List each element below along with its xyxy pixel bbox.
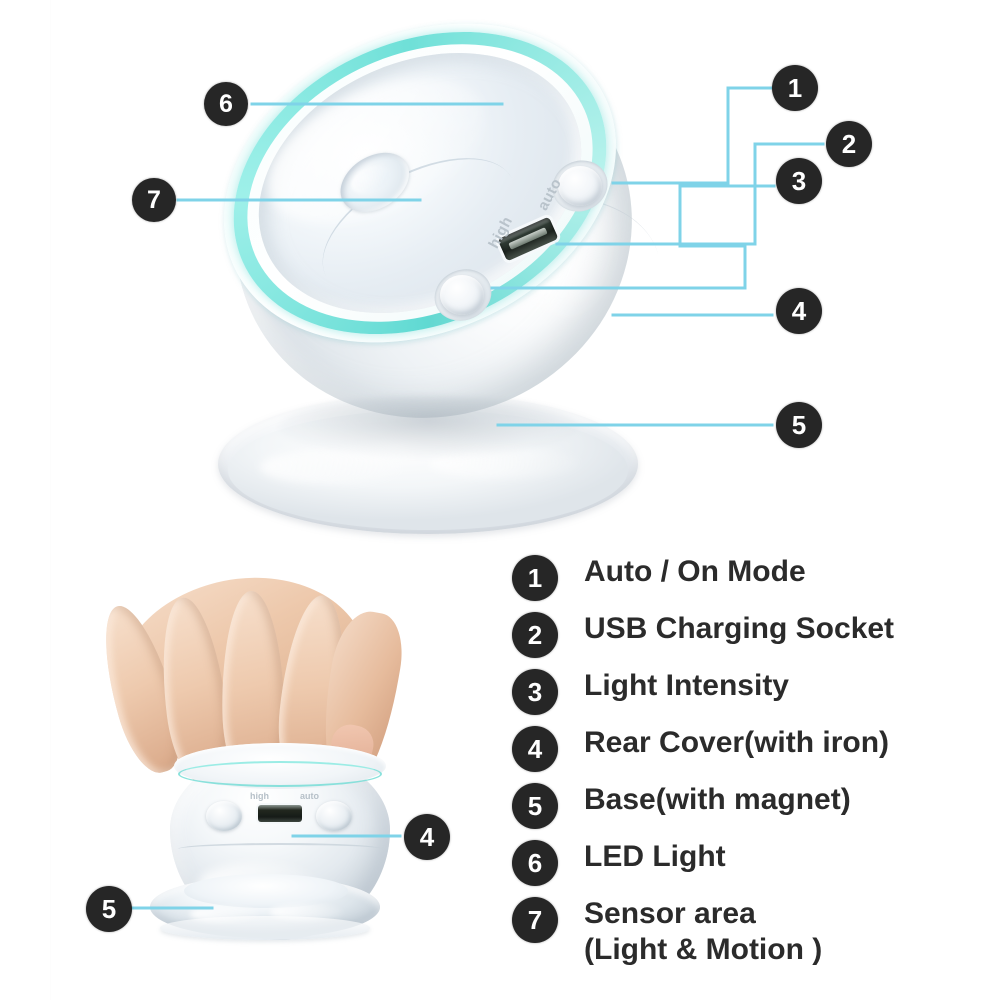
hero-product-illustration: high auto	[200, 18, 670, 538]
legend-badge-3[interactable]: 3	[512, 669, 558, 715]
hand-device-control-strip: high auto	[174, 797, 386, 841]
hand-device-seam	[178, 843, 382, 855]
legend-label-5: Base(with magnet)	[584, 780, 851, 820]
hand-device-teal-ring	[178, 761, 382, 787]
legend-label-4: Rear Cover(with iron)	[584, 723, 889, 763]
hand-device-high-label: high	[250, 791, 269, 801]
hero-callout-badge-1[interactable]: 1	[772, 65, 818, 111]
detached-base-top-face	[184, 874, 348, 908]
legend-label-6: LED Light	[584, 837, 726, 877]
detached-base-illustration	[150, 872, 380, 944]
detached-base-rim-lip	[160, 916, 370, 940]
detached-base-gloss-left	[190, 906, 260, 922]
legend-badge-5[interactable]: 5	[512, 783, 558, 829]
legend-badge-1[interactable]: 1	[512, 555, 558, 601]
legend-item-1: 1 Auto / On Mode	[512, 552, 982, 609]
legend-item-2: 2 USB Charging Socket	[512, 609, 982, 666]
legend-label-7: Sensor area	[584, 894, 756, 934]
legend-badge-7[interactable]: 7	[512, 897, 558, 943]
detached-base-gloss-right	[270, 904, 344, 920]
hero-light-intensity-button[interactable]	[440, 275, 484, 315]
legend-item-6: 6 LED Light	[512, 837, 982, 894]
legend-label-1: Auto / On Mode	[584, 552, 806, 592]
legend-label-7-line2: (Light & Motion )	[584, 930, 822, 970]
legend-badge-6[interactable]: 6	[512, 840, 558, 886]
legend-badge-4[interactable]: 4	[512, 726, 558, 772]
legend-badge-2[interactable]: 2	[512, 612, 558, 658]
legend-label-3: Light Intensity	[584, 666, 789, 706]
legend-item-7: 7 Sensor area (Light & Motion )	[512, 894, 982, 984]
hero-auto-on-mode-button[interactable]	[558, 166, 602, 206]
hand-callout-badge-4[interactable]: 4	[404, 814, 450, 860]
hero-callout-badge-4[interactable]: 4	[776, 288, 822, 334]
legend-label-2: USB Charging Socket	[584, 609, 894, 649]
hero-callout-badge-3[interactable]: 3	[776, 158, 822, 204]
hand-device-auto-button[interactable]	[316, 801, 352, 831]
hand-device-auto-label: auto	[300, 791, 319, 801]
hero-callout-badge-6[interactable]: 6	[204, 82, 248, 126]
hand-device-light-intensity-button[interactable]	[206, 801, 242, 831]
legend-item-4: 4 Rear Cover(with iron)	[512, 723, 982, 780]
hero-callout-badge-5[interactable]: 5	[776, 402, 822, 448]
hero-control-strip: high auto	[200, 18, 670, 538]
product-diagram-page: high auto high auto	[0, 0, 1000, 1000]
loose-base-callout-badge-5[interactable]: 5	[86, 886, 132, 932]
hero-callout-badge-7[interactable]: 7	[132, 178, 176, 222]
hand-device-usb-socket	[258, 805, 302, 822]
hero-callout-badge-2[interactable]: 2	[826, 121, 872, 167]
background-seam	[50, 0, 51, 1000]
legend-item-3: 3 Light Intensity	[512, 666, 982, 723]
legend-item-5: 5 Base(with magnet)	[512, 780, 982, 837]
legend-list: 1 Auto / On Mode 2 USB Charging Socket 3…	[512, 552, 982, 984]
